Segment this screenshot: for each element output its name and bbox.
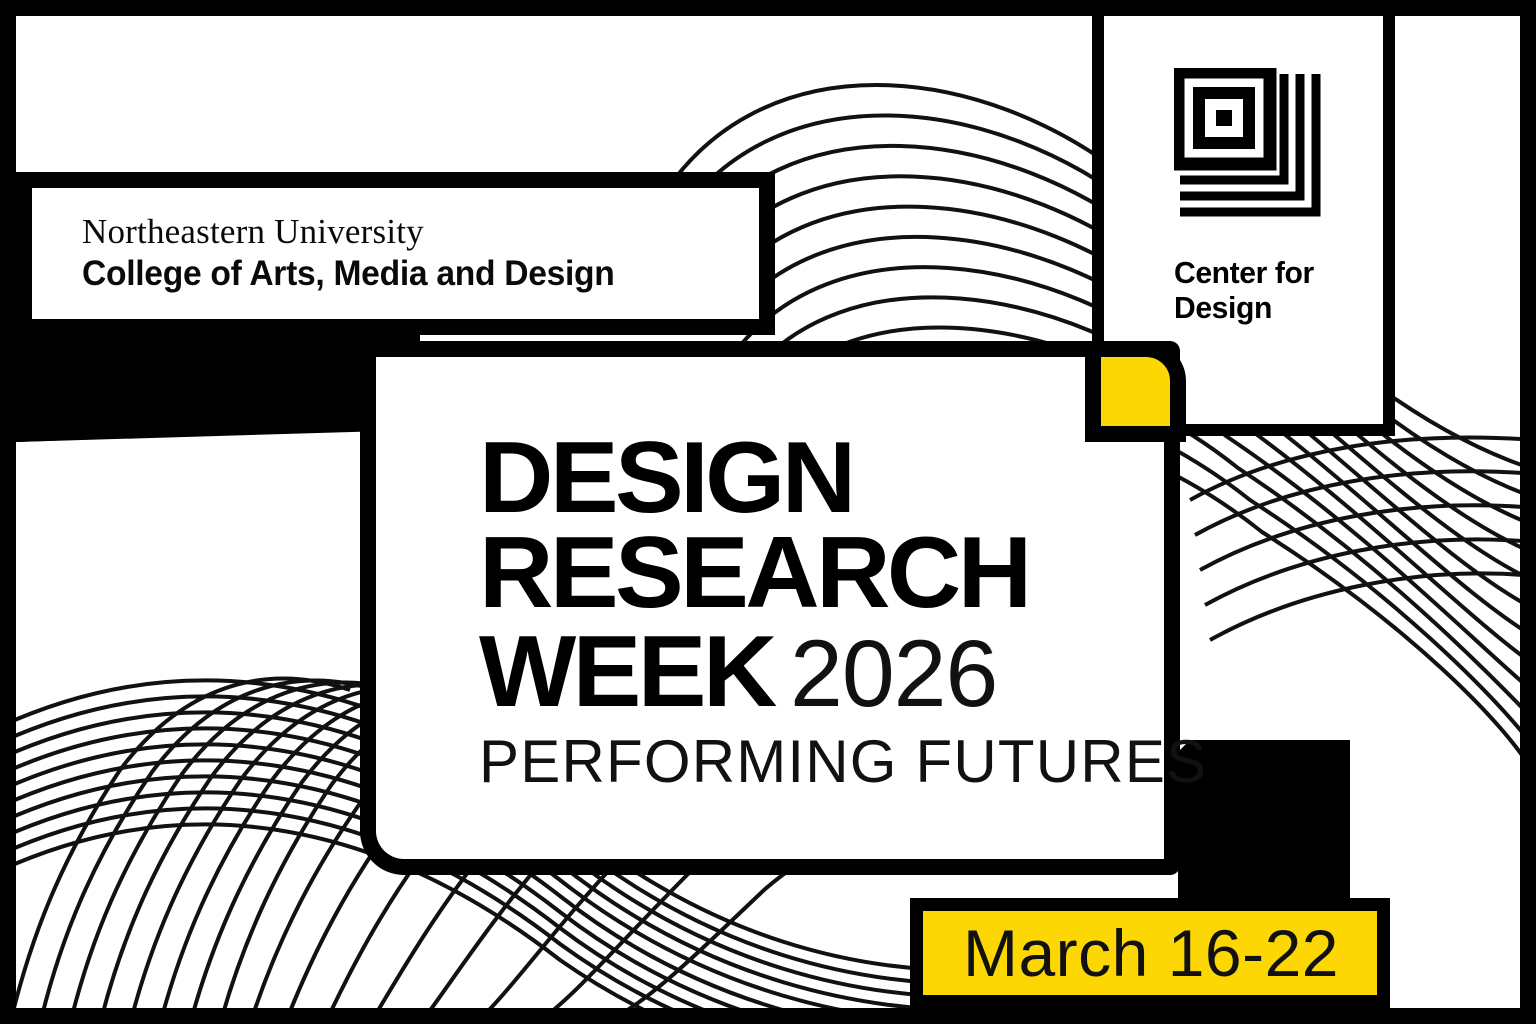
center-for-design-label: Center for Design [1174, 256, 1314, 325]
college-name: College of Arts, Media and Design [82, 254, 732, 293]
nested-squares-icon [1174, 68, 1324, 218]
center-label-line2: Design [1174, 291, 1314, 326]
title-text-block: DESIGN RESEARCH WEEK 2026 PERFORMING FUT… [479, 435, 1119, 792]
main-title-card: DESIGN RESEARCH WEEK 2026 PERFORMING FUT… [360, 341, 1180, 875]
title-word-week: WEEK [479, 629, 774, 716]
black-angled-shape-left [0, 330, 420, 810]
date-band: March 16-22 [910, 898, 1390, 1008]
northeastern-logo-box: Northeastern University College of Arts,… [16, 172, 775, 335]
title-line-design: DESIGN [479, 435, 1132, 522]
university-name: Northeastern University [82, 213, 759, 250]
title-subtitle: PERFORMING FUTURES [479, 732, 1119, 792]
title-line-week-year: WEEK 2026 [479, 629, 1119, 716]
title-line-research: RESEARCH [479, 530, 1132, 617]
yellow-corner-notch [1085, 341, 1186, 442]
poster-canvas: Northeastern University College of Arts,… [0, 0, 1536, 1024]
title-year: 2026 [790, 634, 997, 716]
black-angled-shape-right [1150, 740, 1536, 920]
center-label-line1: Center for [1174, 256, 1314, 291]
event-dates: March 16-22 [963, 920, 1339, 986]
